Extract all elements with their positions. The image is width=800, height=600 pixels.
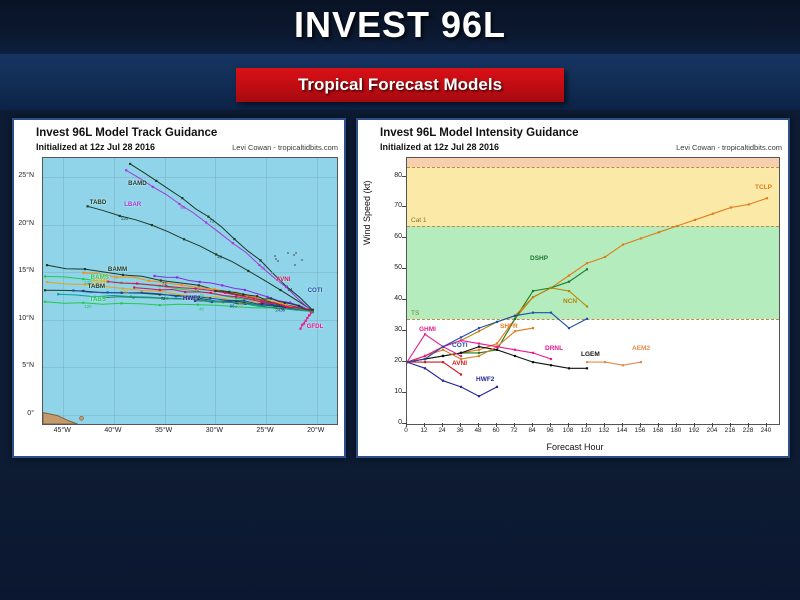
track-map-plot: 247248120369624724812036962472481203696B…	[42, 157, 338, 425]
map-lat-tick: 5°N	[22, 362, 34, 369]
svg-text:72: 72	[209, 219, 214, 224]
intensity-panel-subtitle: Initialized at 12z Jul 28 2016	[380, 142, 499, 152]
intensity-series	[407, 158, 779, 424]
island-marker	[275, 258, 277, 260]
intensity-x-tickmark	[460, 423, 461, 427]
island-marker	[295, 252, 297, 254]
map-model-label-gfdl: GFDL	[307, 323, 324, 330]
intensity-x-tick: 96	[546, 427, 553, 434]
page-title: INVEST 96L	[0, 4, 800, 46]
intensity-x-tickmark	[568, 423, 569, 427]
intensity-panel-title: Invest 96L Model Intensity Guidance	[380, 127, 579, 139]
svg-text:96: 96	[124, 289, 129, 294]
svg-text:120: 120	[84, 304, 92, 309]
map-lat-tick: 0°	[27, 410, 34, 417]
intensity-x-tickmark	[766, 423, 767, 427]
intensity-model-label-drnl: DRNL	[545, 345, 563, 352]
svg-text:48: 48	[199, 306, 204, 311]
intensity-x-tickmark	[586, 423, 587, 427]
island-marker	[301, 259, 303, 261]
intensity-x-tick: 228	[743, 427, 754, 434]
intensity-x-tickmark	[604, 423, 605, 427]
intensity-x-tickmark	[640, 423, 641, 427]
intensity-x-tickmark	[748, 423, 749, 427]
island-marker	[293, 254, 295, 256]
intensity-x-tickmark	[514, 423, 515, 427]
intensity-y-tickmark	[402, 268, 406, 269]
intensity-model-label-ncn: NCN	[563, 298, 577, 305]
intensity-x-tickmark	[712, 423, 713, 427]
intensity-x-tickmark	[658, 423, 659, 427]
intensity-y-tickmark	[402, 361, 406, 362]
intensity-x-tick: 180	[671, 427, 682, 434]
intensity-x-tick: 108	[563, 427, 574, 434]
intensity-x-tick: 132	[599, 427, 610, 434]
intensity-model-label-aem2: AEM2	[632, 345, 650, 352]
intensity-model-label-hwf2: HWF2	[476, 376, 494, 383]
intensity-y-tick: 10	[386, 388, 402, 395]
track-panel-subtitle: Initialized at 12z Jul 28 2016	[36, 142, 155, 152]
island-marker	[294, 264, 296, 266]
intensity-model-label-tclp: TCLP	[755, 184, 772, 191]
intensity-y-tick: 80	[386, 172, 402, 179]
svg-text:96: 96	[230, 303, 235, 308]
map-model-label-hwf2: HWF2	[183, 295, 201, 302]
track-guidance-panel: Invest 96L Model Track Guidance Initiali…	[12, 118, 346, 458]
footer: 2 WBRZ WEATHER @WBRZweather f WBRZ Weath…	[0, 466, 800, 600]
map-lat-tick: 25°N	[18, 172, 34, 179]
intensity-y-tick: 50	[386, 264, 402, 271]
intensity-x-tickmark	[676, 423, 677, 427]
intensity-y-tick: 30	[386, 326, 402, 333]
intensity-x-tick: 144	[617, 427, 628, 434]
banner-tropical-forecast-models: Tropical Forecast Models	[236, 68, 564, 102]
intensity-panel-attribution: Levi Cowan - tropicaltidbits.com	[676, 143, 782, 152]
intensity-x-tickmark	[550, 423, 551, 427]
intensity-x-tickmark	[730, 423, 731, 427]
intensity-y-tick: 20	[386, 357, 402, 364]
track-panel-attribution: Levi Cowan - tropicaltidbits.com	[232, 143, 338, 152]
map-lon-tick: 45°W	[54, 427, 71, 434]
intensity-chart-plot: Cat 1TSTCLPDSHPNCNLGEMAEM2SHFRAVNIHWF2DR…	[406, 157, 780, 425]
intensity-guidance-panel: Invest 96L Model Intensity Guidance Init…	[356, 118, 790, 458]
intensity-x-tick: 120	[581, 427, 592, 434]
svg-text:120: 120	[121, 216, 129, 221]
intensity-x-tick: 204	[707, 427, 718, 434]
intensity-x-tickmark	[442, 423, 443, 427]
map-model-label-avni: AVNI	[276, 276, 290, 283]
weather-graphic: INVEST 96L Tropical Forecast Models Inve…	[0, 0, 800, 600]
svg-text:24: 24	[288, 287, 293, 292]
intensity-x-tick: 156	[635, 427, 646, 434]
intensity-x-tick: 24	[438, 427, 445, 434]
intensity-x-tick: 60	[492, 427, 499, 434]
map-lon-tick: 40°W	[104, 427, 121, 434]
svg-text:72: 72	[162, 281, 167, 286]
island-marker	[287, 252, 289, 254]
svg-text:36: 36	[238, 302, 243, 307]
map-lon-tick: 25°W	[256, 427, 273, 434]
map-model-label-tabd: TABD	[90, 199, 107, 206]
intensity-x-tick: 36	[456, 427, 463, 434]
svg-text:36: 36	[260, 266, 265, 271]
svg-text:36: 36	[280, 307, 285, 312]
island-marker	[277, 260, 279, 262]
intensity-x-tick: 168	[653, 427, 664, 434]
track-lines: 247248120369624724812036962472481203696	[43, 158, 337, 424]
intensity-x-tick: 192	[689, 427, 700, 434]
series-line-coti	[407, 313, 587, 362]
svg-text:48: 48	[217, 255, 222, 260]
intensity-y-tick: 0	[386, 419, 402, 426]
intensity-x-tickmark	[424, 423, 425, 427]
map-model-label-bamm: BAMM	[108, 266, 127, 273]
map-model-label-tabm: TABM	[88, 283, 105, 290]
intensity-model-label-coti: COTI	[452, 342, 468, 349]
intensity-y-tick: 70	[386, 202, 402, 209]
map-lon-tick: 30°W	[206, 427, 223, 434]
intensity-y-tick: 40	[386, 295, 402, 302]
intensity-x-tick: 72	[510, 427, 517, 434]
y-axis-title: Wind Speed (kt)	[362, 180, 372, 245]
map-lon-tick: 20°W	[307, 427, 324, 434]
intensity-x-tickmark	[406, 423, 407, 427]
intensity-y-tickmark	[402, 330, 406, 331]
intensity-x-tickmark	[622, 423, 623, 427]
map-model-label-tabs: TABS	[90, 296, 106, 303]
intensity-y-tickmark	[402, 237, 406, 238]
intensity-y-tickmark	[402, 176, 406, 177]
intensity-x-tick: 240	[761, 427, 772, 434]
map-model-label-lbar: LBAR	[124, 201, 141, 208]
island-marker	[274, 255, 276, 257]
map-lat-tick: 15°N	[18, 267, 34, 274]
intensity-y-tickmark	[402, 392, 406, 393]
intensity-x-tick: 12	[420, 427, 427, 434]
intensity-model-label-lgem: LGEM	[581, 351, 600, 358]
intensity-y-tick: 60	[386, 233, 402, 240]
map-lat-tick: 10°N	[18, 315, 34, 322]
intensity-x-tickmark	[532, 423, 533, 427]
intensity-model-label-avni: AVNI	[452, 360, 467, 367]
intensity-x-tickmark	[478, 423, 479, 427]
svg-text:72: 72	[161, 296, 166, 301]
banner-label: Tropical Forecast Models	[298, 75, 502, 95]
intensity-y-tickmark	[402, 299, 406, 300]
intensity-x-tick: 216	[725, 427, 736, 434]
intensity-y-tickmark	[402, 206, 406, 207]
map-model-label-bamd: BAMD	[128, 180, 147, 187]
track-panel-title: Invest 96L Model Track Guidance	[36, 127, 217, 139]
map-lon-tick: 35°W	[155, 427, 172, 434]
intensity-model-label-ghmi: GHMI	[419, 326, 436, 333]
intensity-x-tickmark	[694, 423, 695, 427]
island-marker	[271, 272, 273, 274]
x-axis-title: Forecast Hour	[358, 442, 792, 452]
series-line-aem2	[587, 362, 641, 365]
intensity-x-tickmark	[496, 423, 497, 427]
intensity-x-tick: 0	[404, 427, 408, 434]
intensity-x-tick: 84	[528, 427, 535, 434]
intensity-model-label-shfr: SHFR	[500, 323, 518, 330]
map-model-label-coti: COTI	[308, 287, 323, 294]
map-lat-tick: 20°N	[18, 220, 34, 227]
intensity-x-tick: 48	[474, 427, 481, 434]
intensity-model-label-dshp: DSHP	[530, 255, 548, 262]
svg-text:96: 96	[180, 205, 185, 210]
